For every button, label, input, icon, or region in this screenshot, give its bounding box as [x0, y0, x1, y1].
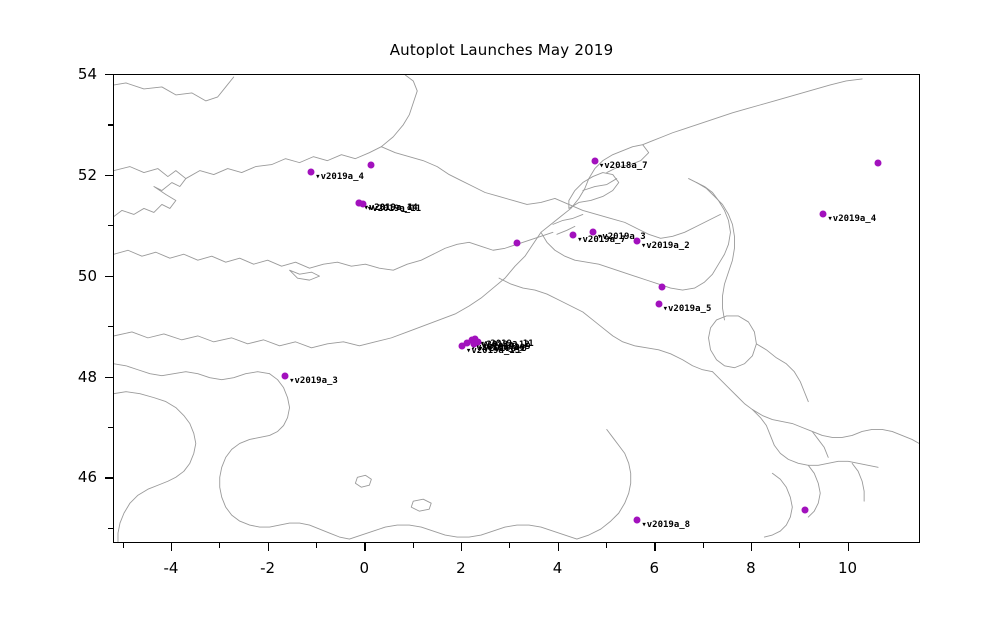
data-point[interactable] — [802, 507, 809, 514]
x-axis-major-tick — [461, 543, 462, 551]
y-axis-major-tick — [105, 276, 113, 277]
y-axis-minor-tick — [108, 225, 113, 226]
x-axis-tick-label: 4 — [533, 559, 583, 577]
x-axis-minor-tick — [703, 543, 704, 548]
data-point[interactable] — [282, 373, 289, 380]
y-axis-minor-tick — [108, 528, 113, 529]
y-axis-minor-tick — [108, 427, 113, 428]
data-point[interactable] — [875, 159, 882, 166]
x-axis-tick-label: 6 — [629, 559, 679, 577]
data-point[interactable] — [633, 238, 640, 245]
data-point-label: ▾v2019a_4 — [827, 215, 876, 224]
data-point[interactable] — [655, 301, 662, 308]
x-axis-minor-tick — [509, 543, 510, 548]
plot-area[interactable]: ▾v2019a_4▾v2019a_44▾v2019a_14▾v2019a_11▾… — [113, 74, 920, 543]
x-axis-major-tick — [171, 543, 172, 551]
y-axis-tick-label: 46 — [53, 468, 97, 486]
page-title: Autoplot Launches May 2019 — [0, 41, 1003, 59]
data-point[interactable] — [471, 341, 478, 348]
x-axis-tick-label: 10 — [823, 559, 873, 577]
x-axis-tick-label: -2 — [243, 559, 293, 577]
data-point-label: ▾v2019a_3 — [289, 377, 338, 386]
data-point-label: ▾v2019a_8 — [641, 521, 690, 530]
x-axis-major-tick — [268, 543, 269, 551]
data-point-label: ▾v2019a_4 — [315, 173, 364, 182]
data-point[interactable] — [591, 157, 598, 164]
data-point[interactable] — [634, 517, 641, 524]
y-axis-tick-label: 52 — [53, 166, 97, 184]
x-axis-minor-tick — [413, 543, 414, 548]
x-axis-minor-tick — [606, 543, 607, 548]
data-point-label: ▾v2018a_7 — [599, 162, 648, 171]
x-axis-minor-tick — [219, 543, 220, 548]
x-axis-tick-label: 2 — [436, 559, 486, 577]
figure-canvas: Autoplot Launches May 2019 — [0, 0, 1003, 633]
y-axis-tick-label: 50 — [53, 267, 97, 285]
y-axis-tick-label: 48 — [53, 368, 97, 386]
data-point-label: ▾v2019a_5 — [663, 305, 712, 314]
data-point-label: ▾v2019a_6 — [478, 345, 527, 354]
x-axis-major-tick — [558, 543, 559, 551]
data-point[interactable] — [820, 210, 827, 217]
x-axis-major-tick — [364, 543, 365, 551]
data-point-label: ▾v2019a_2 — [641, 242, 690, 251]
y-axis-major-tick — [105, 477, 113, 478]
x-axis-minor-tick — [123, 543, 124, 548]
x-axis-tick-label: 8 — [726, 559, 776, 577]
y-axis-major-tick — [105, 175, 113, 176]
x-axis-major-tick — [751, 543, 752, 551]
data-point[interactable] — [658, 283, 665, 290]
data-point[interactable] — [367, 161, 374, 168]
x-axis-major-tick — [848, 543, 849, 551]
data-point[interactable] — [359, 200, 366, 207]
x-axis-tick-label: -4 — [146, 559, 196, 577]
x-axis-major-tick — [654, 543, 655, 551]
x-axis-minor-tick — [316, 543, 317, 548]
data-point[interactable] — [570, 232, 577, 239]
data-point[interactable] — [589, 229, 596, 236]
data-point[interactable] — [308, 168, 315, 175]
data-points-layer: ▾v2019a_4▾v2019a_44▾v2019a_14▾v2019a_11▾… — [114, 75, 919, 542]
y-axis-minor-tick — [108, 124, 113, 125]
x-axis-tick-label: 0 — [339, 559, 389, 577]
y-axis-tick-label: 54 — [53, 65, 97, 83]
data-point[interactable] — [514, 239, 521, 246]
y-axis-minor-tick — [108, 326, 113, 327]
y-axis-major-tick — [105, 377, 113, 378]
data-point-label: ▾v2019a_11 — [367, 205, 421, 214]
y-axis-major-tick — [105, 74, 113, 75]
x-axis-minor-tick — [799, 543, 800, 548]
